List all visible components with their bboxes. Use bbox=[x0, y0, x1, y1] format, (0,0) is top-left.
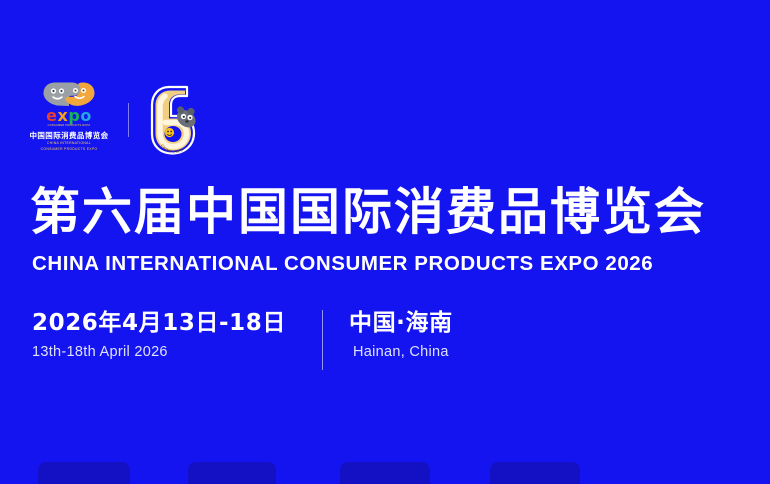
event-location-chinese: 中国·海南 bbox=[349, 308, 453, 338]
expo-letter-p: p bbox=[68, 106, 80, 125]
event-location-block: 中国·海南 Hainan, China bbox=[349, 308, 453, 361]
expo-letter-o: o bbox=[80, 106, 92, 125]
expo-wordmark-subtitle: CONSUMER PRODUCTS EXPO bbox=[48, 124, 91, 128]
event-date-block: 2026年4月13日-18日 13th-18th April 2026 bbox=[32, 308, 286, 361]
expo-logo-chinese-name: 中国国际消费品博览会 bbox=[30, 131, 109, 140]
expo-heart-faces-icon bbox=[42, 81, 96, 107]
bottom-card-strip bbox=[0, 462, 770, 484]
bottom-card[interactable] bbox=[340, 462, 430, 484]
event-location-english: Hainan, China bbox=[353, 343, 449, 361]
event-date-english: 13th-18th April 2026 bbox=[32, 343, 286, 361]
bottom-card[interactable] bbox=[38, 462, 130, 484]
expo-letter-x: x bbox=[58, 106, 69, 125]
expo-logo-english-line1: CHINA INTERNATIONAL bbox=[47, 141, 91, 146]
info-divider bbox=[322, 310, 323, 370]
logo-row: expo CONSUMER PRODUCTS EXPO 中国国际消费品博览会 C… bbox=[26, 80, 209, 160]
expo-wordmark: expo bbox=[46, 108, 92, 124]
expo-logo-english-line2: CONSUMER PRODUCTS EXPO bbox=[41, 147, 98, 152]
bottom-card[interactable] bbox=[490, 462, 580, 484]
expo-letter-e: e bbox=[46, 106, 57, 125]
page-title-chinese: 第六届中国国际消费品博览会 bbox=[30, 183, 706, 241]
logo-divider bbox=[128, 103, 129, 137]
expo-banner: expo CONSUMER PRODUCTS EXPO 中国国际消费品博览会 C… bbox=[0, 0, 770, 484]
sixth-edition-panda-icon[interactable]: CHINA EXPO bbox=[147, 84, 209, 156]
expo-logo[interactable]: expo CONSUMER PRODUCTS EXPO 中国国际消费品博览会 C… bbox=[26, 81, 112, 159]
bottom-card[interactable] bbox=[188, 462, 276, 484]
event-date-chinese: 2026年4月13日-18日 bbox=[32, 308, 286, 338]
page-title-english: CHINA INTERNATIONAL CONSUMER PRODUCTS EX… bbox=[32, 251, 653, 276]
event-info-row: 2026年4月13日-18日 13th-18th April 2026 中国·海… bbox=[32, 308, 453, 370]
